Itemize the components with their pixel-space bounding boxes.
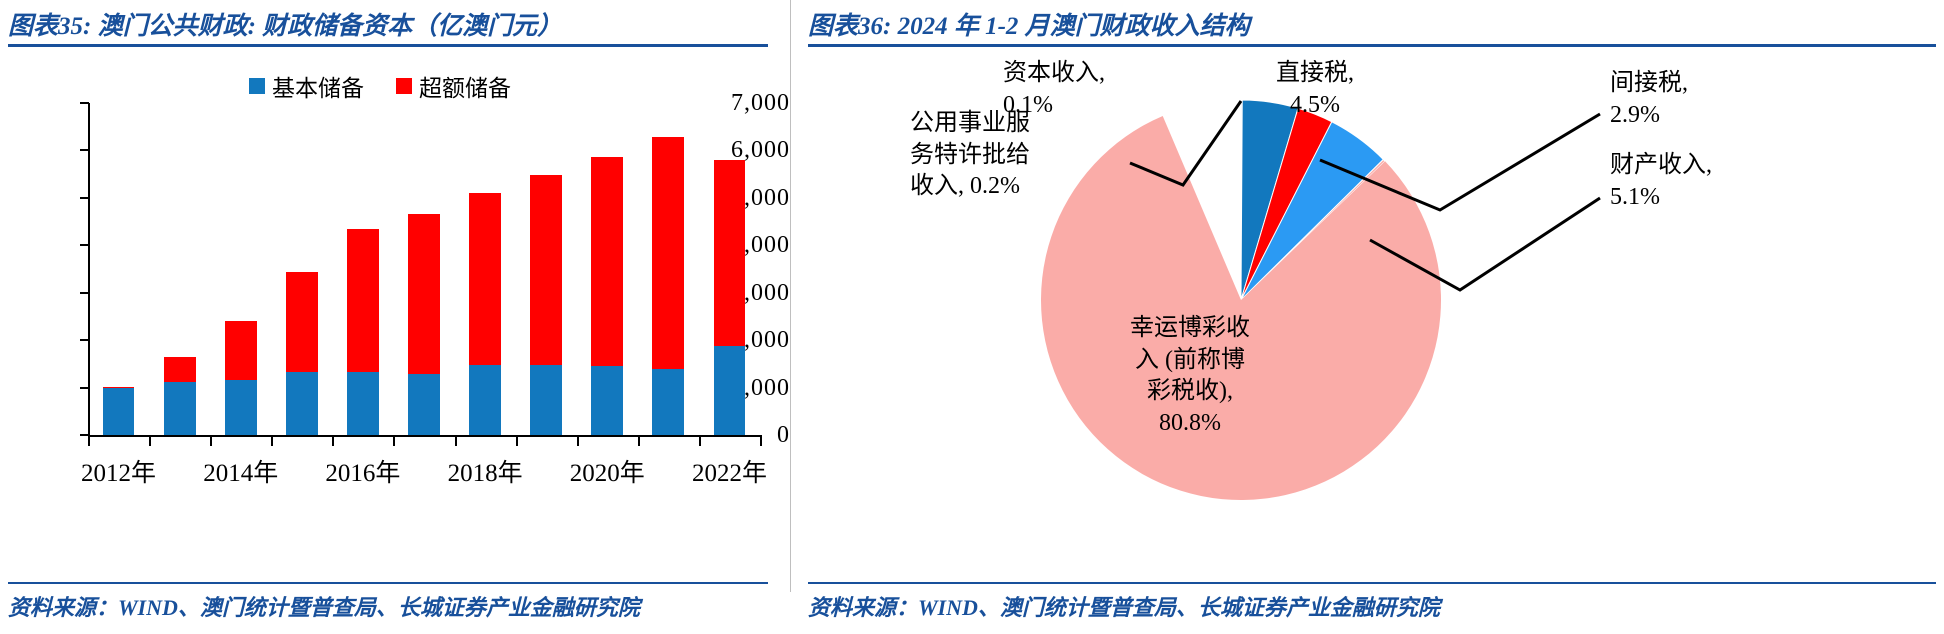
bar-segment-excess-reserve xyxy=(530,175,562,365)
bar-segment-excess-reserve xyxy=(347,229,379,372)
x-axis-tick-mark xyxy=(638,437,640,446)
bar-segment-excess-reserve xyxy=(225,321,257,380)
figure-36-source: 资料来源：WIND、澳门统计暨普查局、长城证券产业金融研究院 xyxy=(808,590,1440,622)
x-axis-tick-mark xyxy=(332,437,334,446)
bar-segment-excess-reserve xyxy=(469,193,501,366)
bar-group xyxy=(652,137,684,435)
bar-group xyxy=(103,387,135,435)
bar-segment-base-reserve xyxy=(408,374,440,435)
bar-group xyxy=(164,357,196,435)
bar-segment-excess-reserve xyxy=(286,272,318,372)
x-axis-tick-mark xyxy=(393,437,395,446)
figures-page: 图表35: 澳门公共财政: 财政储备资本（亿澳门元） 基本储备 超额储备 01,… xyxy=(0,0,1944,634)
legend-label-base-reserve: 基本储备 xyxy=(272,69,364,103)
x-axis-tick-mark xyxy=(760,437,762,446)
bar-group xyxy=(714,160,746,435)
x-axis-tick-label: 2012年 xyxy=(81,453,156,489)
x-axis-tick-mark xyxy=(455,437,457,446)
figure-36-title: 图表36: 2024 年 1-2 月澳门财政收入结构 xyxy=(808,6,1250,42)
bar-segment-base-reserve xyxy=(164,382,196,435)
right-figure-panel: 图表36: 2024 年 1-2 月澳门财政收入结构 幸运博彩收 入 (前称博 … xyxy=(800,0,1944,634)
bar-segment-base-reserve xyxy=(225,380,257,435)
legend-label-excess-reserve: 超额储备 xyxy=(419,69,511,103)
x-axis-tick-mark xyxy=(577,437,579,446)
x-axis-tick-mark xyxy=(149,437,151,446)
bar-segment-base-reserve xyxy=(591,366,623,435)
bar-segment-excess-reserve xyxy=(164,357,196,382)
x-axis-tick-label: 2014年 xyxy=(203,453,278,489)
x-axis-line xyxy=(88,435,762,437)
x-axis-tick-mark xyxy=(88,437,90,446)
bar-segment-base-reserve xyxy=(652,369,684,435)
x-axis-tick-mark xyxy=(516,437,518,446)
bar-group xyxy=(225,321,257,435)
x-axis-tick-label: 2016年 xyxy=(325,453,400,489)
bar-segment-excess-reserve xyxy=(714,160,746,346)
x-axis-tick-label: 2018年 xyxy=(448,453,523,489)
pie-label-gaming-revenue: 幸运博彩收 入 (前称博 彩税收), 80.8% xyxy=(1095,313,1285,440)
fiscal-reserve-bar-chart: 基本储备 超额储备 01,0002,0003,0004,0005,0006,00… xyxy=(0,55,790,535)
legend-item-excess-reserve: 超额储备 xyxy=(396,69,511,103)
legend-item-base-reserve: 基本储备 xyxy=(249,69,364,103)
figure-35-title-rule xyxy=(8,44,768,47)
pie-label-utility-concession-revenue: 公用事业服 务特许批给 收入, 0.2% xyxy=(910,108,1100,203)
legend-swatch-base-reserve xyxy=(249,78,265,94)
bar-group xyxy=(408,214,440,435)
pie-label-indirect-tax: 间接税, 2.9% xyxy=(1610,68,1800,131)
x-axis-tick-label: 2022年 xyxy=(692,453,767,489)
pie-label-direct-tax: 直接税, 4.5% xyxy=(1230,58,1400,121)
bar-segment-base-reserve xyxy=(347,372,379,435)
bar-segment-base-reserve xyxy=(469,365,501,435)
bar-segment-excess-reserve xyxy=(408,214,440,375)
bar-segment-base-reserve xyxy=(286,372,318,435)
bar-segment-base-reserve xyxy=(530,365,562,435)
figure-36-footer-rule xyxy=(808,582,1936,584)
bar-group xyxy=(469,193,501,435)
bar-segment-base-reserve xyxy=(714,346,746,435)
x-axis-tick-mark xyxy=(210,437,212,446)
left-figure-panel: 图表35: 澳门公共财政: 财政储备资本（亿澳门元） 基本储备 超额储备 01,… xyxy=(0,0,790,634)
legend-swatch-excess-reserve xyxy=(396,78,412,94)
bar-group xyxy=(347,229,379,435)
bar-group xyxy=(286,272,318,435)
x-axis-tick-mark xyxy=(271,437,273,446)
figure-35-source: 资料来源：WIND、澳门统计暨普查局、长城证券产业金融研究院 xyxy=(8,590,640,622)
figure-36-title-rule xyxy=(808,44,1936,47)
bar-segment-excess-reserve xyxy=(591,157,623,366)
panel-divider xyxy=(790,0,791,592)
bar-plot-area xyxy=(88,103,760,435)
bar-group xyxy=(530,175,562,435)
bar-group xyxy=(591,157,623,435)
bar-segment-excess-reserve xyxy=(652,137,684,368)
revenue-structure-pie-chart: 幸运博彩收 入 (前称博 彩税收), 80.8% 资本收入, 0.1% 直接税,… xyxy=(800,50,1944,540)
pie-label-property-revenue: 财产收入, 5.1% xyxy=(1610,150,1800,213)
bar-segment-excess-reserve xyxy=(103,387,135,388)
bar-segment-base-reserve xyxy=(103,388,135,435)
x-axis-tick-label: 2020年 xyxy=(570,453,645,489)
figure-35-title: 图表35: 澳门公共财政: 财政储备资本（亿澳门元） xyxy=(8,6,562,42)
bar-chart-legend: 基本储备 超额储备 xyxy=(0,69,760,103)
figure-35-footer-rule xyxy=(8,582,768,584)
x-axis-tick-mark xyxy=(699,437,701,446)
